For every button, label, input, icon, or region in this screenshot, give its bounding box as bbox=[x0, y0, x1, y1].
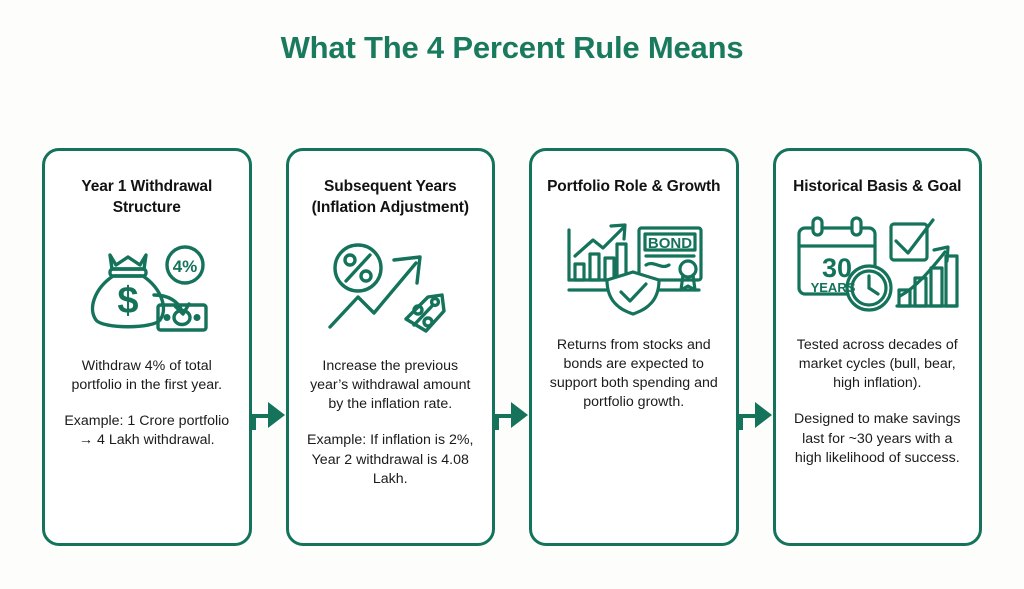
card-title: Subsequent Years (Inflation Adjustment) bbox=[303, 177, 479, 219]
card-body: Withdraw 4% of total portfolio in the fi… bbox=[59, 357, 235, 451]
card-paragraph: Increase the previous year’s withdrawal … bbox=[303, 357, 479, 415]
card-title: Historical Basis & Goal bbox=[793, 177, 961, 198]
card-year-1-withdrawal-structure[interactable]: Year 1 Withdrawal Structure 4% $ bbox=[42, 148, 252, 546]
icon-currency-label: $ bbox=[117, 280, 138, 322]
icon-calendar-number: 30 bbox=[822, 253, 852, 283]
arrow-right-icon bbox=[252, 400, 286, 430]
card-paragraph: Designed to make savings last for ~30 ye… bbox=[790, 410, 966, 468]
card-body: Tested across decades of market cycles (… bbox=[790, 336, 966, 468]
connector-2 bbox=[495, 148, 529, 546]
card-paragraph: Tested across decades of market cycles (… bbox=[790, 336, 966, 394]
card-paragraph: Returns from stocks and bonds are expect… bbox=[546, 336, 722, 413]
money-bag-percent-banknote-icon: 4% $ bbox=[72, 235, 222, 335]
card-subsequent-years-inflation-adjustment[interactable]: Subsequent Years (Inflation Adjustment) bbox=[286, 148, 496, 546]
card-body: Increase the previous year’s withdrawal … bbox=[303, 357, 479, 489]
page-title: What The 4 Percent Rule Means bbox=[0, 30, 1024, 66]
calendar-clock-checkbox-growthchart-icon: 30 YEARS bbox=[793, 214, 961, 314]
percent-rising-arrow-pricetag-icon bbox=[320, 235, 460, 335]
connector-1 bbox=[252, 148, 286, 546]
cards-row: Year 1 Withdrawal Structure 4% $ bbox=[42, 148, 982, 546]
icon-certificate-label: BOND bbox=[648, 235, 692, 252]
balance-scale-bondcertificate-shield-icon: BOND bbox=[551, 214, 716, 314]
icon-calendar-unit: YEARS bbox=[811, 280, 856, 295]
card-title: Portfolio Role & Growth bbox=[547, 177, 720, 198]
connector-3 bbox=[739, 148, 773, 546]
card-paragraph: Withdraw 4% of total portfolio in the fi… bbox=[59, 357, 235, 395]
card-historical-basis-goal[interactable]: Historical Basis & Goal bbox=[773, 148, 983, 546]
arrow-right-icon bbox=[739, 400, 773, 430]
icon-badge-label: 4% bbox=[172, 257, 197, 276]
card-body: Returns from stocks and bonds are expect… bbox=[546, 336, 722, 413]
card-portfolio-role-growth[interactable]: Portfolio Role & Growth bbox=[529, 148, 739, 546]
card-paragraph: Example: If inflation is 2%, Year 2 with… bbox=[303, 431, 479, 489]
arrow-right-icon bbox=[495, 400, 529, 430]
card-title: Year 1 Withdrawal Structure bbox=[59, 177, 235, 219]
card-paragraph: Example: 1 Crore portfolio → 4 Lakh with… bbox=[59, 412, 235, 450]
